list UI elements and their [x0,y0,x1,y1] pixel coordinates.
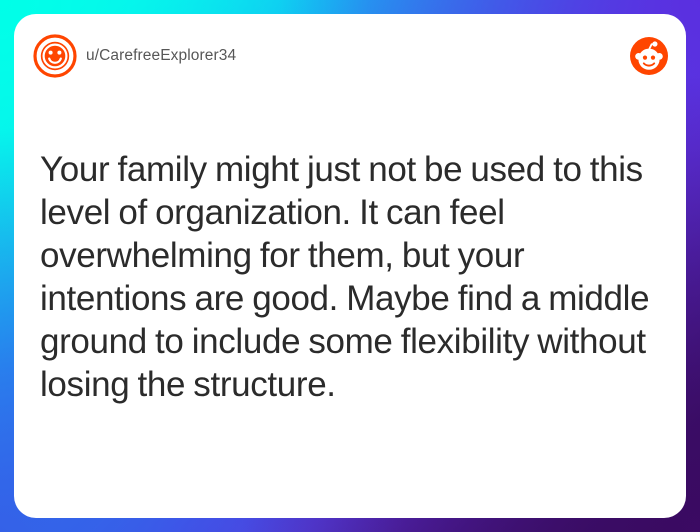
reddit-post-card: u/CarefreeExplorer34 Your family might j… [14,14,686,518]
post-header: u/CarefreeExplorer34 [14,14,686,100]
screenshot-stage: u/CarefreeExplorer34 Your family might j… [0,0,700,532]
reddit-snoo-logo-icon[interactable] [629,36,669,76]
smiley-face-avatar-icon [33,34,77,78]
post-author-username[interactable]: u/CarefreeExplorer34 [86,45,236,67]
post-body-text: Your family might just not be used to th… [40,148,662,406]
